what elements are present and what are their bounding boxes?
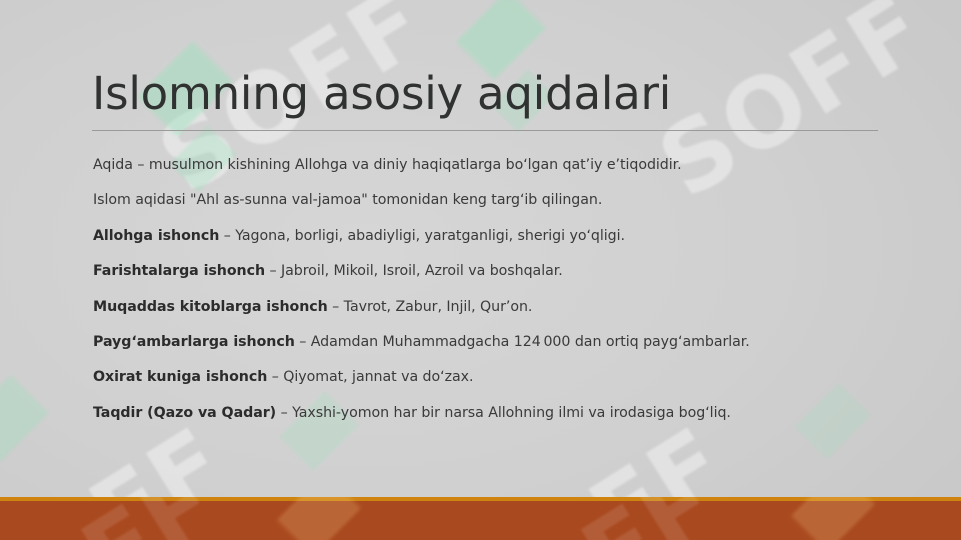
body-line-lead: Taqdir (Qazo va Qadar): [93, 405, 276, 421]
footer-accent-stripe: [0, 497, 961, 501]
body-line-text: Aqida – musulmon kishining Allohga va di…: [93, 157, 682, 173]
body-line-lead: Oxirat kuniga ishonch: [93, 369, 267, 385]
body-line-text: – Yaxshi-yomon har bir narsa Allohning i…: [276, 405, 731, 421]
body-line-text: – Jabroil, Mikoil, Isroil, Azroil va bos…: [265, 263, 563, 279]
footer-accent-bar: SOFF SOFF: [0, 497, 961, 540]
body-line: Islom aqidasi "Ahl as-sunna val-jamoa" t…: [93, 183, 913, 218]
watermark-diamond-icon: [791, 497, 875, 540]
watermark-text: SOFF: [0, 497, 238, 540]
watermark-text: SOFF: [432, 497, 737, 540]
body-line: Paygʻambarlarga ishonch – Adamdan Muhamm…: [93, 325, 913, 360]
body-line-lead: Paygʻambarlarga ishonch: [93, 334, 295, 350]
body-line-lead: Allohga ishonch: [93, 228, 219, 244]
body-text-list: Aqida – musulmon kishining Allohga va di…: [93, 148, 913, 431]
title-divider: [92, 130, 878, 131]
body-line-lead: Muqaddas kitoblarga ishonch: [93, 299, 328, 315]
body-line-text: – Qiyomat, jannat va doʻzax.: [267, 369, 473, 385]
body-line: Oxirat kuniga ishonch – Qiyomat, jannat …: [93, 360, 913, 395]
body-line: Aqida – musulmon kishining Allohga va di…: [93, 148, 913, 183]
body-line: Allohga ishonch – Yagona, borligi, abadi…: [93, 219, 913, 254]
body-line-text: – Adamdan Muhammadgacha 124 000 dan orti…: [295, 334, 750, 350]
page-title: Islomning asosiy aqidalari: [92, 70, 671, 117]
body-line: Taqdir (Qazo va Qadar) – Yaxshi-yomon ha…: [93, 396, 913, 431]
footer-watermark-layer: SOFF SOFF: [0, 497, 961, 540]
body-line-text: – Tavrot, Zabur, Injil, Qur’on.: [328, 299, 533, 315]
body-line: Farishtalarga ishonch – Jabroil, Mikoil,…: [93, 254, 913, 289]
body-line-text: – Yagona, borligi, abadiyligi, yaratganl…: [219, 228, 625, 244]
watermark-diamond-icon: [0, 375, 49, 463]
body-line-text: Islom aqidasi "Ahl as-sunna val-jamoa" t…: [93, 192, 602, 208]
presentation-slide: SOFF SOFF SOFF SOFF Islomning asosiy aqi…: [0, 0, 961, 540]
watermark-diamond-icon: [277, 497, 361, 540]
body-line-lead: Farishtalarga ishonch: [93, 263, 265, 279]
body-line: Muqaddas kitoblarga ishonch – Tavrot, Za…: [93, 290, 913, 325]
